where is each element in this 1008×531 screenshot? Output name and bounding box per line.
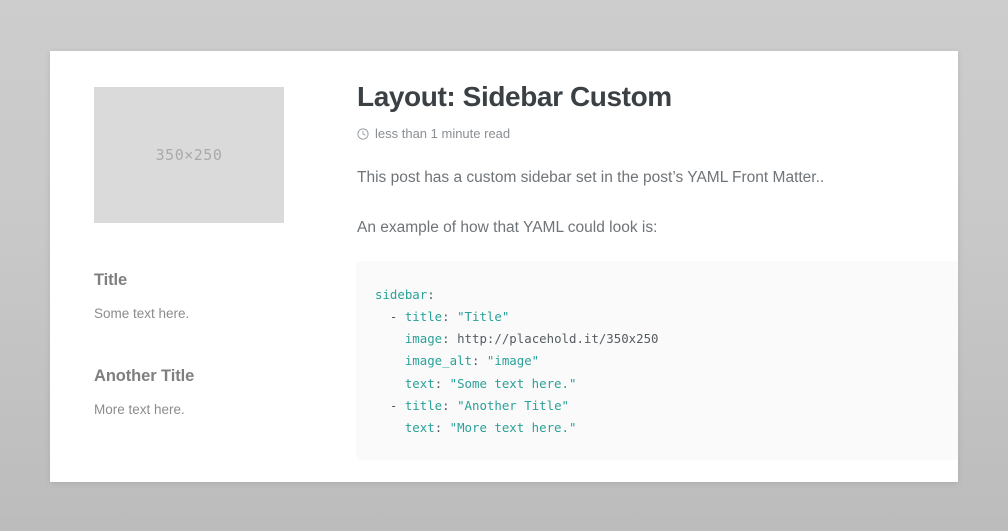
clock-icon: [357, 128, 369, 140]
code-snippet-yaml: sidebar: - title: "Title" image: http://…: [375, 284, 939, 439]
code-block: sidebar: - title: "Title" image: http://…: [357, 262, 958, 459]
read-time-label: less than 1 minute read: [375, 126, 510, 141]
sidebar-figure-image: 350×250: [94, 87, 284, 223]
post-paragraph: An example of how that YAML could look i…: [357, 216, 958, 239]
post-meta: less than 1 minute read: [357, 126, 958, 141]
sidebar-figure-label: 350×250: [156, 146, 223, 164]
sidebar-block-another-title: Another Title More text here.: [94, 367, 357, 420]
sidebar-block-heading: Another Title: [94, 367, 357, 386]
sidebar-block-title: Title Some text here.: [94, 271, 357, 324]
post-card-inner: 350×250 Title Some text here. Another Ti…: [50, 51, 958, 482]
sidebar-block-text: More text here.: [94, 400, 357, 420]
post-main: Layout: Sidebar Custom less than 1 minut…: [357, 51, 958, 482]
post-card: 350×250 Title Some text here. Another Ti…: [50, 51, 958, 482]
page-title: Layout: Sidebar Custom: [357, 81, 958, 113]
sidebar-block-heading: Title: [94, 271, 357, 290]
sidebar-block-text: Some text here.: [94, 304, 357, 324]
post-sidebar: 350×250 Title Some text here. Another Ti…: [50, 51, 357, 482]
post-paragraph: This post has a custom sidebar set in th…: [357, 166, 958, 189]
